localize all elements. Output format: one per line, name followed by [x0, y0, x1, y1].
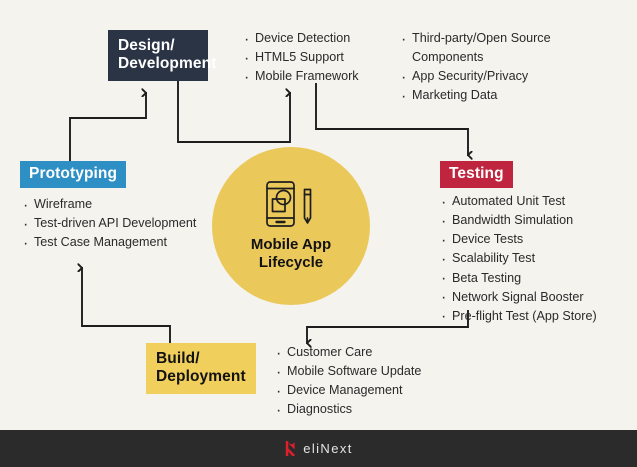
list-prototyping-items: Wireframe Test-driven API Development Te… — [22, 195, 202, 252]
list-item: Test-driven API Development — [22, 214, 202, 233]
list-item: Test Case Management — [22, 233, 202, 252]
center-node-mobile-app-lifecycle[interactable]: Mobile App Lifecycle — [212, 147, 370, 305]
list-testing-items: Automated Unit Test Bandwidth Simulation… — [440, 192, 635, 326]
list-item: Beta Testing — [440, 269, 635, 288]
center-label-line1: Mobile App — [251, 236, 331, 253]
smartphone-pencil-icon — [262, 180, 320, 228]
node-build-label-line1: Build/ — [156, 350, 200, 367]
node-prototyping[interactable]: Prototyping — [20, 161, 126, 188]
list-item: Device Tests — [440, 230, 635, 249]
list-item: Wireframe — [22, 195, 202, 214]
node-design-development[interactable]: Design/ Development — [108, 30, 208, 81]
arrow-build-to-prototyping — [82, 268, 170, 343]
list-item: Diagnostics — [275, 400, 475, 419]
list-item: Mobile Software Update — [275, 362, 475, 381]
arrow-design-loop — [178, 80, 290, 142]
list-item: Bandwidth Simulation — [440, 211, 635, 230]
footer-bar: eliNext — [0, 430, 637, 467]
list-item: Customer Care — [275, 343, 475, 362]
list-item: Third-party/Open Source Components — [400, 29, 585, 67]
list-item: Network Signal Booster — [440, 288, 635, 307]
list-item: Mobile Framework — [243, 67, 393, 86]
list-item: Device Detection — [243, 29, 393, 48]
node-build-label-line2: Deployment — [156, 368, 246, 385]
center-label-line2: Lifecycle — [259, 254, 323, 271]
list-item: Pre-flight Test (App Store) — [440, 307, 635, 326]
footer-brand-name: eliNext — [303, 441, 353, 456]
node-testing-label: Testing — [449, 165, 504, 183]
infographic-canvas: Design/ Development Device Detection HTM… — [0, 0, 637, 467]
list-design-items: Device Detection HTML5 Support Mobile Fr… — [243, 29, 393, 86]
list-item: App Security/Privacy — [400, 67, 585, 86]
list-build-items: Customer Care Mobile Software Update Dev… — [275, 343, 475, 420]
list-item: Marketing Data — [400, 86, 585, 105]
elinext-logo-icon — [284, 440, 297, 457]
node-testing[interactable]: Testing — [440, 161, 513, 188]
list-design-secondary-items: Third-party/Open Source Components App S… — [400, 29, 585, 106]
node-build-deployment[interactable]: Build/ Deployment — [146, 343, 256, 394]
node-design-label-line1: Design/ — [118, 37, 175, 54]
list-item: Scalability Test — [440, 249, 635, 268]
node-design-label-line2: Development — [118, 55, 216, 72]
list-item: Device Management — [275, 381, 475, 400]
node-prototyping-label: Prototyping — [29, 165, 117, 183]
list-item: HTML5 Support — [243, 48, 393, 67]
list-item: Automated Unit Test — [440, 192, 635, 211]
